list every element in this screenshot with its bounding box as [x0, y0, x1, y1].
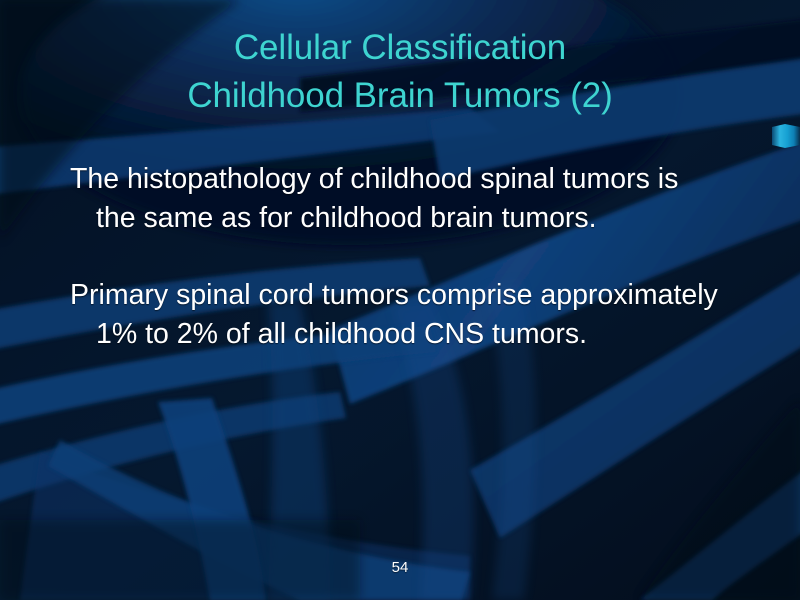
- slide-title-line-1: Cellular Classification: [0, 30, 800, 66]
- slide-body: The histopathology of childhood spinal t…: [70, 160, 720, 354]
- slide-title: Cellular Classification Childhood Brain …: [0, 30, 800, 113]
- paragraph-spacer: [70, 238, 720, 276]
- slide-canvas: Cellular Classification Childhood Brain …: [0, 0, 800, 600]
- body-paragraph-2: Primary spinal cord tumors comprise appr…: [70, 276, 720, 354]
- accent-ribbon-icon: [772, 123, 800, 149]
- body-paragraph-1: The histopathology of childhood spinal t…: [70, 160, 720, 238]
- page-number: 54: [0, 559, 800, 576]
- slide-title-line-2: Childhood Brain Tumors (2): [0, 78, 800, 114]
